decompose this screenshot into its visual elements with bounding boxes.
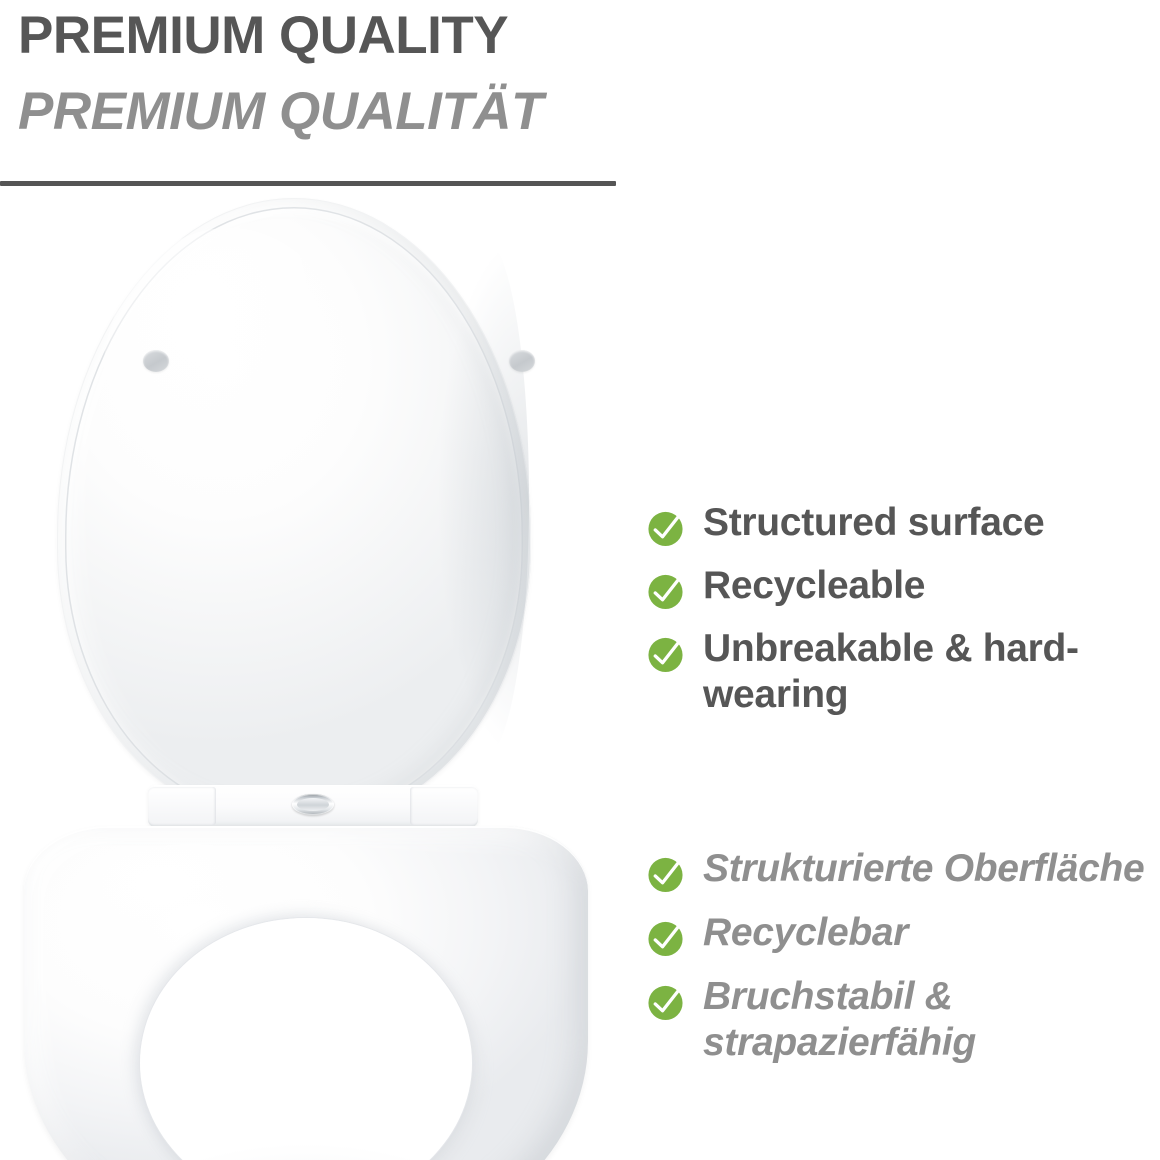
feature-label: Strukturierte Oberfläche — [703, 846, 1144, 892]
header: PREMIUM QUALITY PREMIUM QUALITÄT — [0, 0, 640, 190]
release-button-inner — [297, 798, 329, 811]
check-circle-icon — [646, 572, 685, 611]
check-circle-icon — [646, 983, 685, 1022]
feature-item-en-3: Unbreakable & hard-wearing — [646, 626, 1151, 718]
feature-item-de-3: Bruchstabil & strapazierfähig — [646, 974, 1151, 1066]
release-button-icon — [292, 794, 334, 815]
seat-opening — [140, 918, 472, 1160]
check-circle-icon — [646, 635, 685, 674]
toilet-lid — [57, 198, 531, 823]
bumper-pad-right — [509, 350, 535, 372]
page-title-en: PREMIUM QUALITY — [18, 8, 508, 64]
bumper-pad-left — [143, 350, 169, 372]
feature-label: Unbreakable & hard-wearing — [703, 626, 1151, 718]
header-divider — [0, 181, 616, 186]
feature-list-en: Structured surface Recycleable Unbreakab… — [646, 500, 1151, 733]
feature-label: Structured surface — [703, 500, 1044, 546]
feature-item-en-2: Recycleable — [646, 563, 1151, 611]
feature-list-de: Strukturierte Oberfläche Recyclebar Bruc… — [646, 846, 1151, 1082]
page-title-de: PREMIUM QUALITÄT — [18, 84, 543, 140]
feature-label: Recyclebar — [703, 910, 908, 956]
feature-label: Recycleable — [703, 563, 925, 609]
hinge-cap-left — [148, 787, 216, 825]
feature-item-de-2: Recyclebar — [646, 910, 1151, 958]
product-image — [0, 190, 640, 1160]
check-circle-icon — [646, 509, 685, 548]
seat-hinge — [148, 785, 478, 827]
check-circle-icon — [646, 855, 685, 894]
toilet-seat-ring — [24, 826, 588, 1160]
hinge-cap-right — [410, 787, 478, 825]
feature-item-de-1: Strukturierte Oberfläche — [646, 846, 1151, 894]
check-circle-icon — [646, 919, 685, 958]
lid-rim — [65, 207, 523, 816]
product-infographic: PREMIUM QUALITY PREMIUM QUALITÄT — [0, 0, 1160, 1160]
feature-label: Bruchstabil & strapazierfähig — [703, 974, 1151, 1066]
feature-item-en-1: Structured surface — [646, 500, 1151, 548]
